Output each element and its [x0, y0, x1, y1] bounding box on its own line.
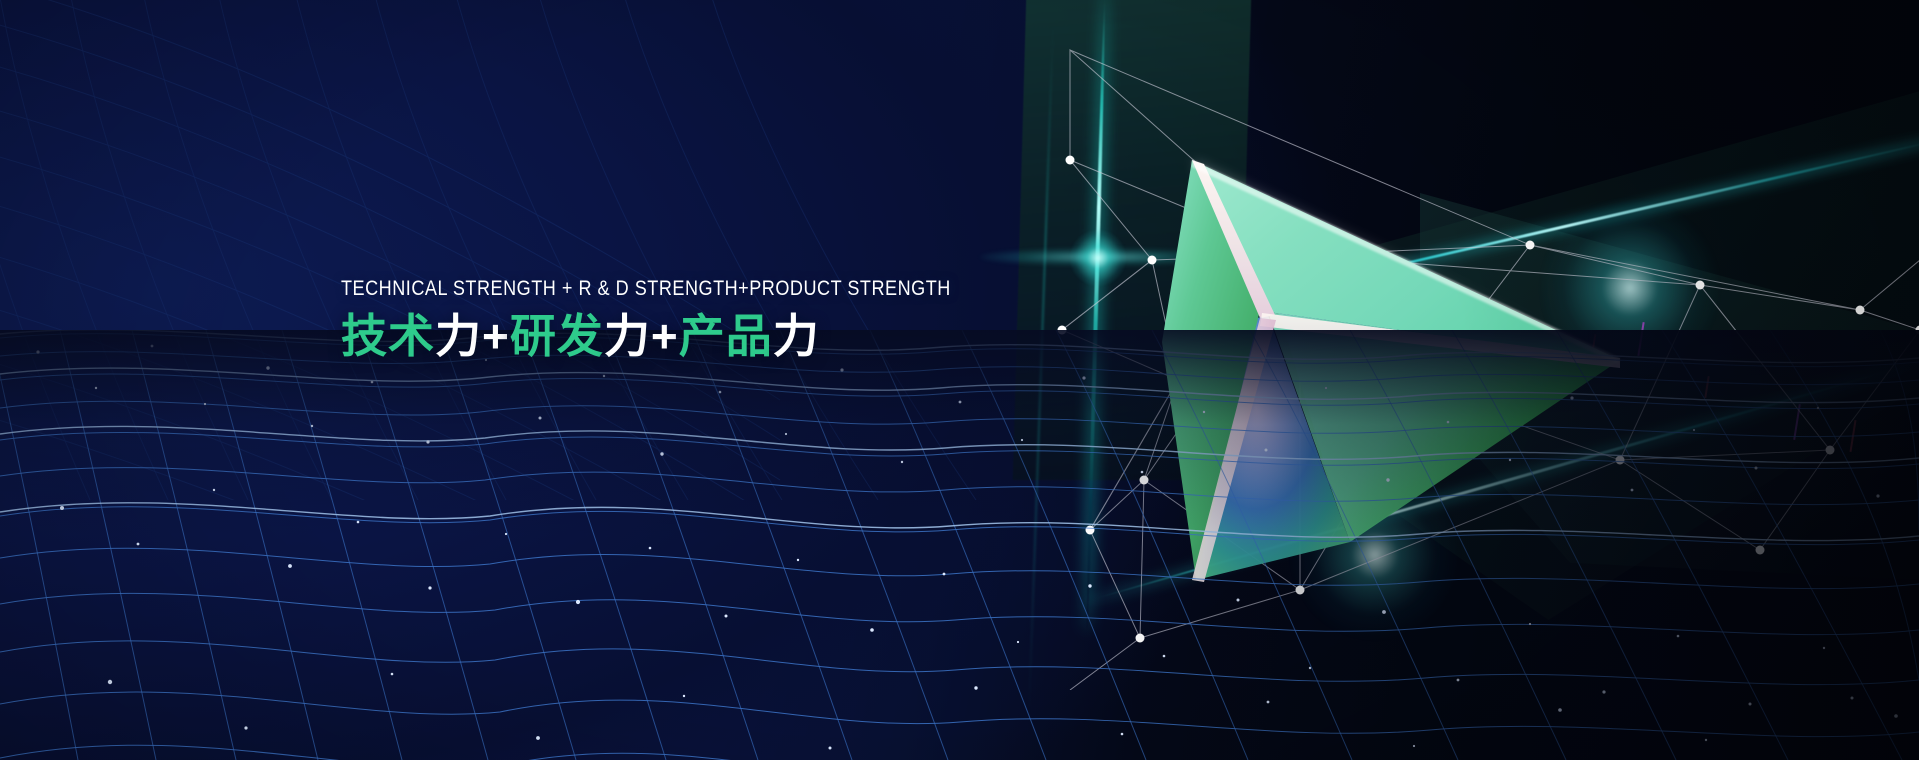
- accent-tick-red-3: [1704, 376, 1709, 398]
- arrow-right-wing: [1268, 312, 1620, 542]
- arrow-top-face: [1192, 160, 1620, 360]
- accent-tick-red-2: [1850, 420, 1857, 452]
- hero-headline: 技术力+研发力+产品力: [341, 308, 1041, 364]
- headline-seg-0: 技术: [341, 310, 435, 362]
- arrow-shadow-face: [1278, 308, 1620, 542]
- accent-tick-magenta-2: [1793, 404, 1801, 440]
- dark-panel-left: [1013, 0, 1253, 480]
- headline-seg-6: 产品: [679, 310, 773, 362]
- headline-seg-5: +: [651, 310, 679, 362]
- arrow-crease-diagonal: [1192, 160, 1275, 318]
- headline-seg-4: 力: [604, 310, 651, 362]
- accent-tick-magenta-1: [1637, 322, 1644, 356]
- upper-right-ray-flare: [1540, 198, 1720, 378]
- vertical-ray-flare-wide: [980, 248, 1220, 266]
- headline-seg-3: 研发: [510, 310, 604, 362]
- arrow-left-face: [1162, 160, 1260, 580]
- hero-banner: TECHNICAL STRENGTH + R & D STRENGTH+PROD…: [0, 0, 1919, 760]
- hero-eyebrow: TECHNICAL STRENGTH + R & D STRENGTH+PROD…: [341, 276, 943, 302]
- thin-cyan-ray: [1028, 20, 1054, 720]
- arrow-crease-vertical: [1192, 318, 1276, 582]
- terrain-top-fade: [0, 330, 1919, 760]
- terrain-right-dim: [1099, 330, 1919, 760]
- terrain-particles: [0, 330, 1919, 760]
- lower-right-diagonal-ray: [1085, 346, 1919, 602]
- headline-seg-2: +: [482, 310, 510, 362]
- dark-panel-far-right: [1420, 150, 1919, 580]
- dark-panel-right: [1170, 60, 1919, 620]
- vignette-overlay: [0, 0, 1919, 760]
- wireframe-wave-terrain: [0, 330, 1919, 760]
- folded-triangle-arrow: [1100, 150, 1640, 600]
- upper-right-diagonal-ray: [1240, 129, 1919, 303]
- vertical-ray-flare: [1070, 230, 1126, 286]
- background-grid: [0, 0, 980, 500]
- vertical-cyan-ray: [1085, 0, 1107, 630]
- hero-text-block: TECHNICAL STRENGTH + R & D STRENGTH+PROD…: [341, 276, 1041, 364]
- headline-seg-7: 力: [773, 310, 820, 362]
- arrow-inner-face: [1188, 315, 1350, 580]
- lower-right-ray-flare: [1290, 470, 1460, 640]
- arrow-crease-horizontal: [1260, 313, 1620, 368]
- polygonal-node-network: [1000, 30, 1919, 690]
- headline-seg-1: 力: [435, 310, 482, 362]
- accent-tick-red-1: [1590, 334, 1597, 364]
- arrow-top-rim: [1192, 160, 1620, 364]
